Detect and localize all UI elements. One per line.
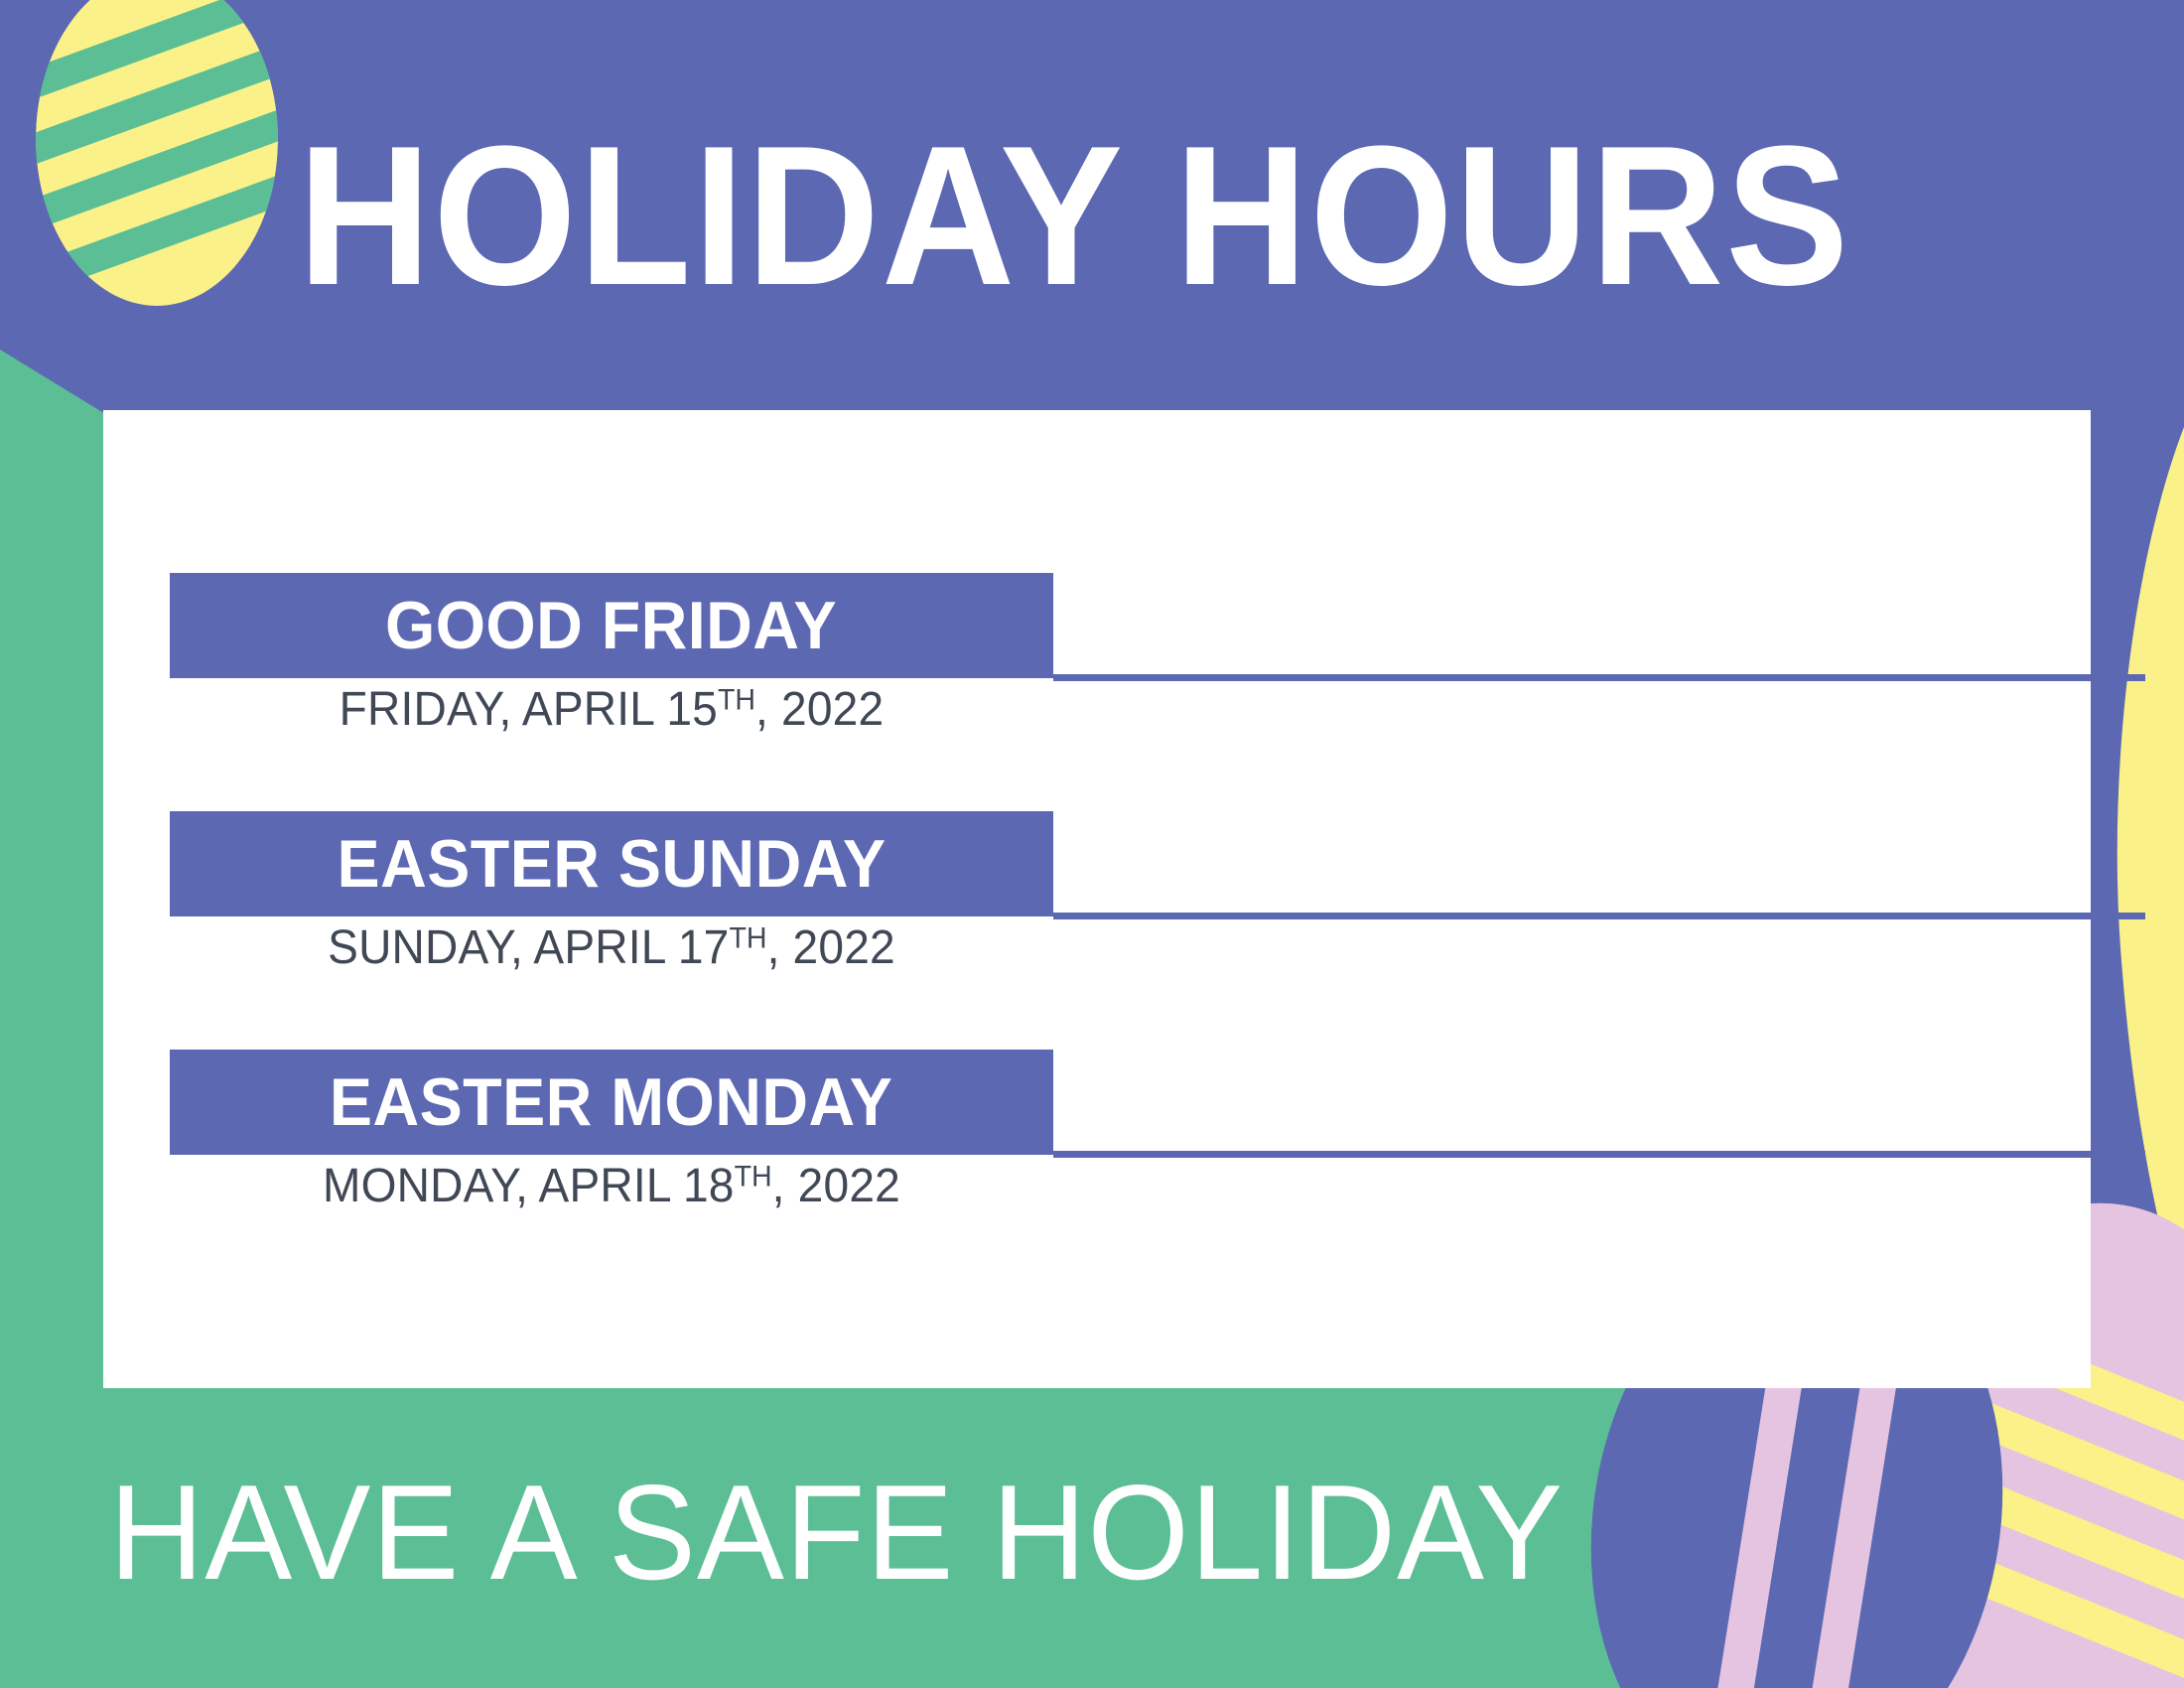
holiday-date: MONDAY, APRIL 18TH, 2022	[188, 1159, 1035, 1213]
holiday-name: EASTER MONDAY	[330, 1063, 892, 1141]
holiday-name-band: EASTER MONDAY	[170, 1050, 1053, 1155]
holiday-name: GOOD FRIDAY	[385, 587, 837, 664]
holiday-hours-rule	[1053, 913, 2145, 919]
holiday-date-suffix: , 2022	[772, 1160, 900, 1212]
holiday-date-suffix: , 2022	[767, 921, 895, 974]
holiday-row: EASTER MONDAY MONDAY, APRIL 18TH, 2022	[170, 1050, 2086, 1198]
holiday-hours-poster: HOLIDAY HOURS GOOD FRIDAY FRIDAY, APRIL …	[0, 0, 2184, 1688]
holiday-row: EASTER SUNDAY SUNDAY, APRIL 17TH, 2022	[170, 811, 2086, 960]
holiday-date-prefix: MONDAY, APRIL 18	[323, 1160, 735, 1212]
page-title: HOLIDAY HOURS	[298, 117, 1867, 316]
holiday-date-prefix: FRIDAY, APRIL 15	[340, 683, 718, 736]
holiday-date: SUNDAY, APRIL 17TH, 2022	[188, 920, 1035, 975]
holiday-date-suffix: , 2022	[755, 683, 884, 736]
holiday-row: GOOD FRIDAY FRIDAY, APRIL 15TH, 2022	[170, 573, 2086, 722]
holiday-name-band: GOOD FRIDAY	[170, 573, 1053, 678]
holiday-name-band: EASTER SUNDAY	[170, 811, 1053, 916]
holiday-date-ordinal: TH	[718, 684, 755, 717]
holiday-date: FRIDAY, APRIL 15TH, 2022	[188, 682, 1035, 737]
footer-message: HAVE A SAFE HOLIDAY	[109, 1465, 1564, 1600]
holiday-date-ordinal: TH	[729, 922, 766, 955]
holiday-hours-rule	[1053, 1151, 2145, 1158]
holiday-name: EASTER SUNDAY	[337, 825, 886, 903]
holiday-hours-rule	[1053, 674, 2145, 681]
holiday-list-card: GOOD FRIDAY FRIDAY, APRIL 15TH, 2022 EAS…	[103, 410, 2091, 1388]
holiday-date-ordinal: TH	[735, 1161, 772, 1194]
holiday-date-prefix: SUNDAY, APRIL 17	[328, 921, 729, 974]
